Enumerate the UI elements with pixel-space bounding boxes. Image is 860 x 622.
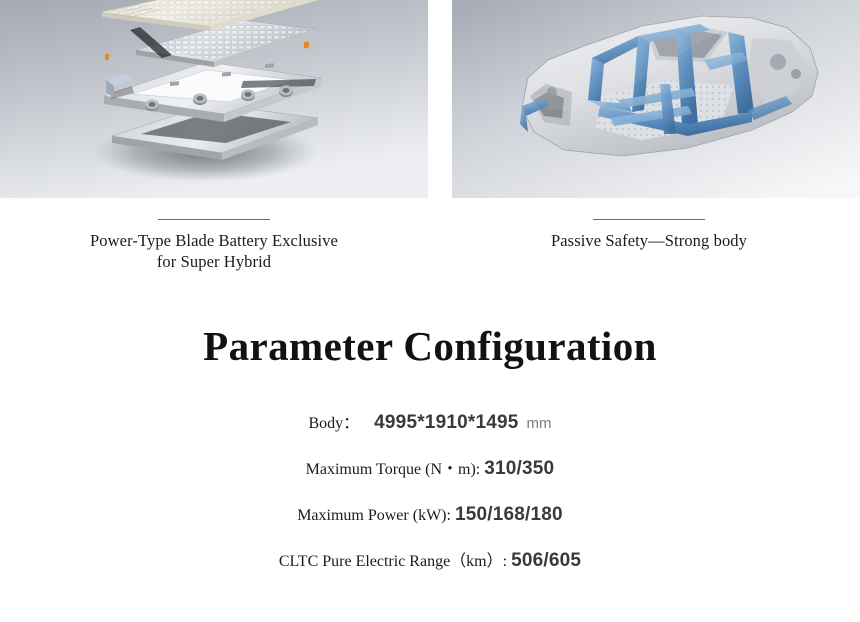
caption-divider-right — [593, 219, 705, 220]
caption-block-battery: Power-Type Blade Battery Exclusive for S… — [0, 198, 428, 272]
car-body-image-card[interactable] — [452, 0, 860, 198]
parameter-configuration-section: Parameter Configuration Body： 4995*1910*… — [0, 300, 860, 584]
battery-pack-image-card[interactable] — [0, 0, 428, 198]
spec-label-range: CLTC Pure Electric Range（km）: — [279, 553, 507, 570]
caption-row: Power-Type Blade Battery Exclusive for S… — [0, 198, 860, 298]
spec-value-body: 4995*1910*1495 — [374, 412, 518, 433]
car-body-frame-image — [452, 0, 860, 198]
spec-value-power: 150/168/180 — [455, 504, 563, 525]
spec-value-torque: 310/350 — [484, 458, 554, 479]
caption-divider-left — [158, 219, 270, 220]
spec-row-range: CLTC Pure Electric Range（km）: 506/605 — [0, 538, 860, 584]
spec-label-power: Maximum Power (kW): — [297, 507, 451, 524]
page-title: Parameter Configuration — [0, 320, 860, 372]
media-row — [0, 0, 860, 198]
spec-row-body: Body： 4995*1910*1495 mm — [0, 400, 860, 446]
caption-line-2: for Super Hybrid — [157, 252, 271, 271]
spec-row-torque: Maximum Torque (N・m): 310/350 — [0, 446, 860, 492]
caption-text-battery: Power-Type Blade Battery Exclusive for S… — [0, 230, 428, 272]
caption-line-1: Power-Type Blade Battery Exclusive — [90, 231, 338, 250]
caption-block-safety: Passive Safety—Strong body — [440, 198, 858, 251]
caption-text-safety: Passive Safety—Strong body — [440, 230, 858, 251]
spec-label-torque: Maximum Torque (N・m): — [306, 461, 481, 478]
spec-value-range: 506/605 — [511, 550, 581, 571]
spec-list: Body： 4995*1910*1495 mm Maximum Torque (… — [0, 400, 860, 584]
spec-unit-body: mm — [527, 415, 552, 432]
spec-row-power: Maximum Power (kW): 150/168/180 — [0, 492, 860, 538]
battery-pack-exploded-image — [0, 0, 428, 198]
spec-label-body: Body： — [308, 415, 359, 432]
